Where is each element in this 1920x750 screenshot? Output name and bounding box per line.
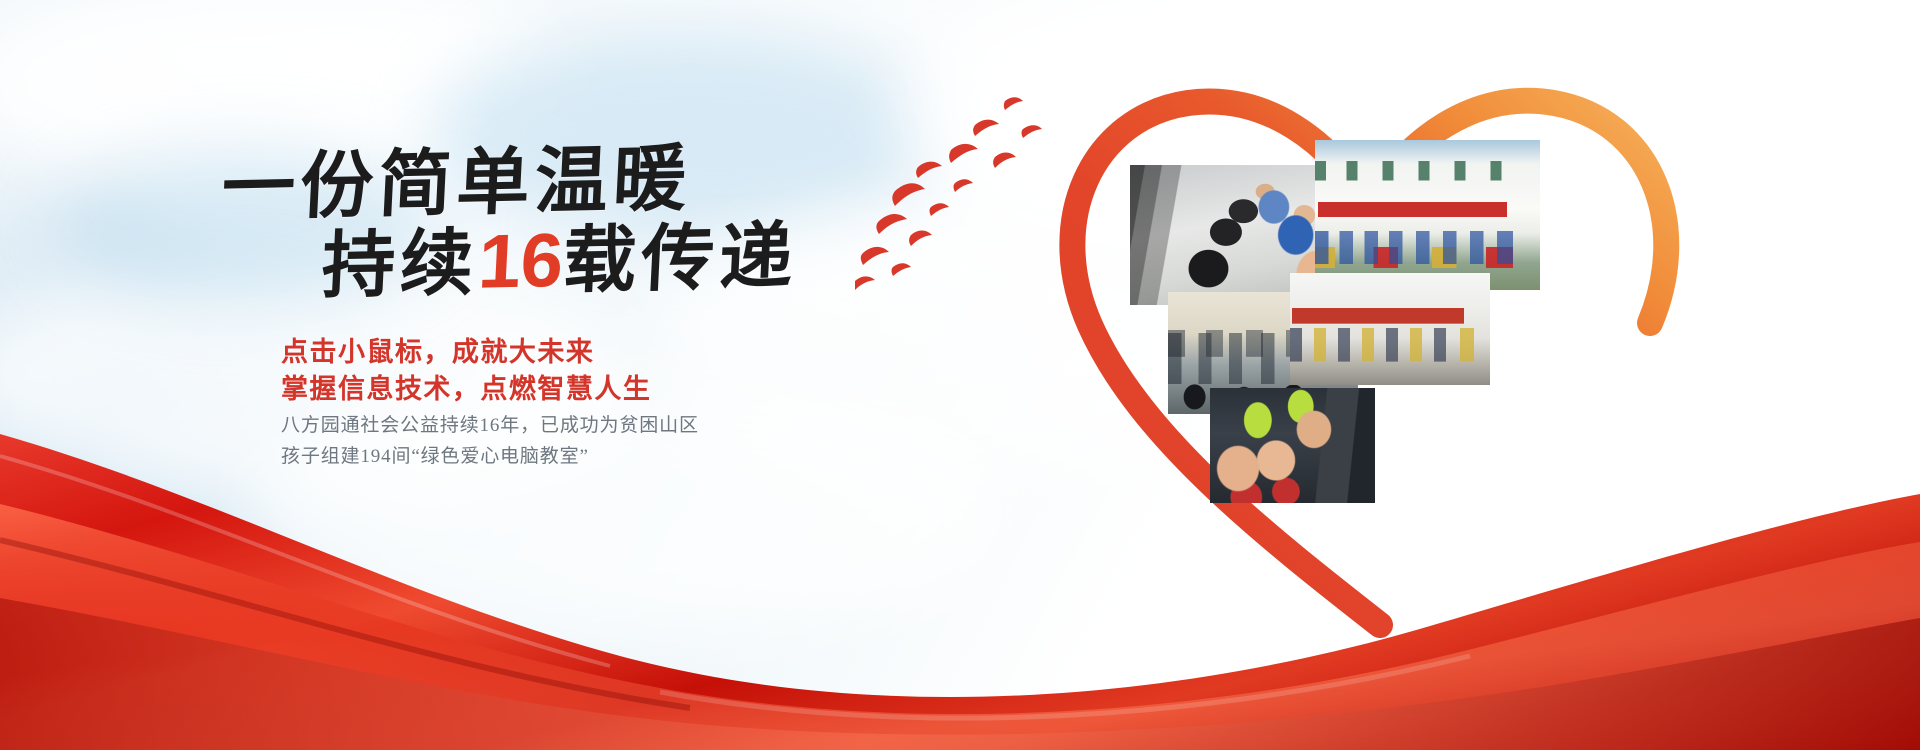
body-line-2: 孩子组建194间“绿色爱心电脑教室” (281, 441, 589, 468)
headline-line-2-prefix: 持续 (320, 223, 480, 307)
photo-school-donation-ceremony (1315, 140, 1540, 290)
photo-indoor-donation-ceremony (1290, 273, 1490, 385)
charity-banner: 一份简单温暖 持续16载传递 点击小鼠标，成就大未来 掌握信息技术，点燃智慧人生… (0, 0, 1920, 750)
body-line-1: 八方园通社会公益持续16年，已成功为贫困山区 (281, 410, 699, 437)
text-block: 一份简单温暖 持续16载传递 点击小鼠标，成就大未来 掌握信息技术，点燃智慧人生… (0, 0, 900, 600)
headline-year-count: 16 (476, 218, 565, 305)
headline-line-1: 一份简单温暖 (220, 142, 693, 225)
subtitle-line-2: 掌握信息技术，点燃智慧人生 (281, 367, 651, 406)
subtitle-line-1: 点击小鼠标，成就大未来 (281, 330, 594, 369)
headline-line-2: 持续16载传递 (320, 218, 799, 304)
headline-line-2-suffix: 载传递 (561, 216, 800, 302)
